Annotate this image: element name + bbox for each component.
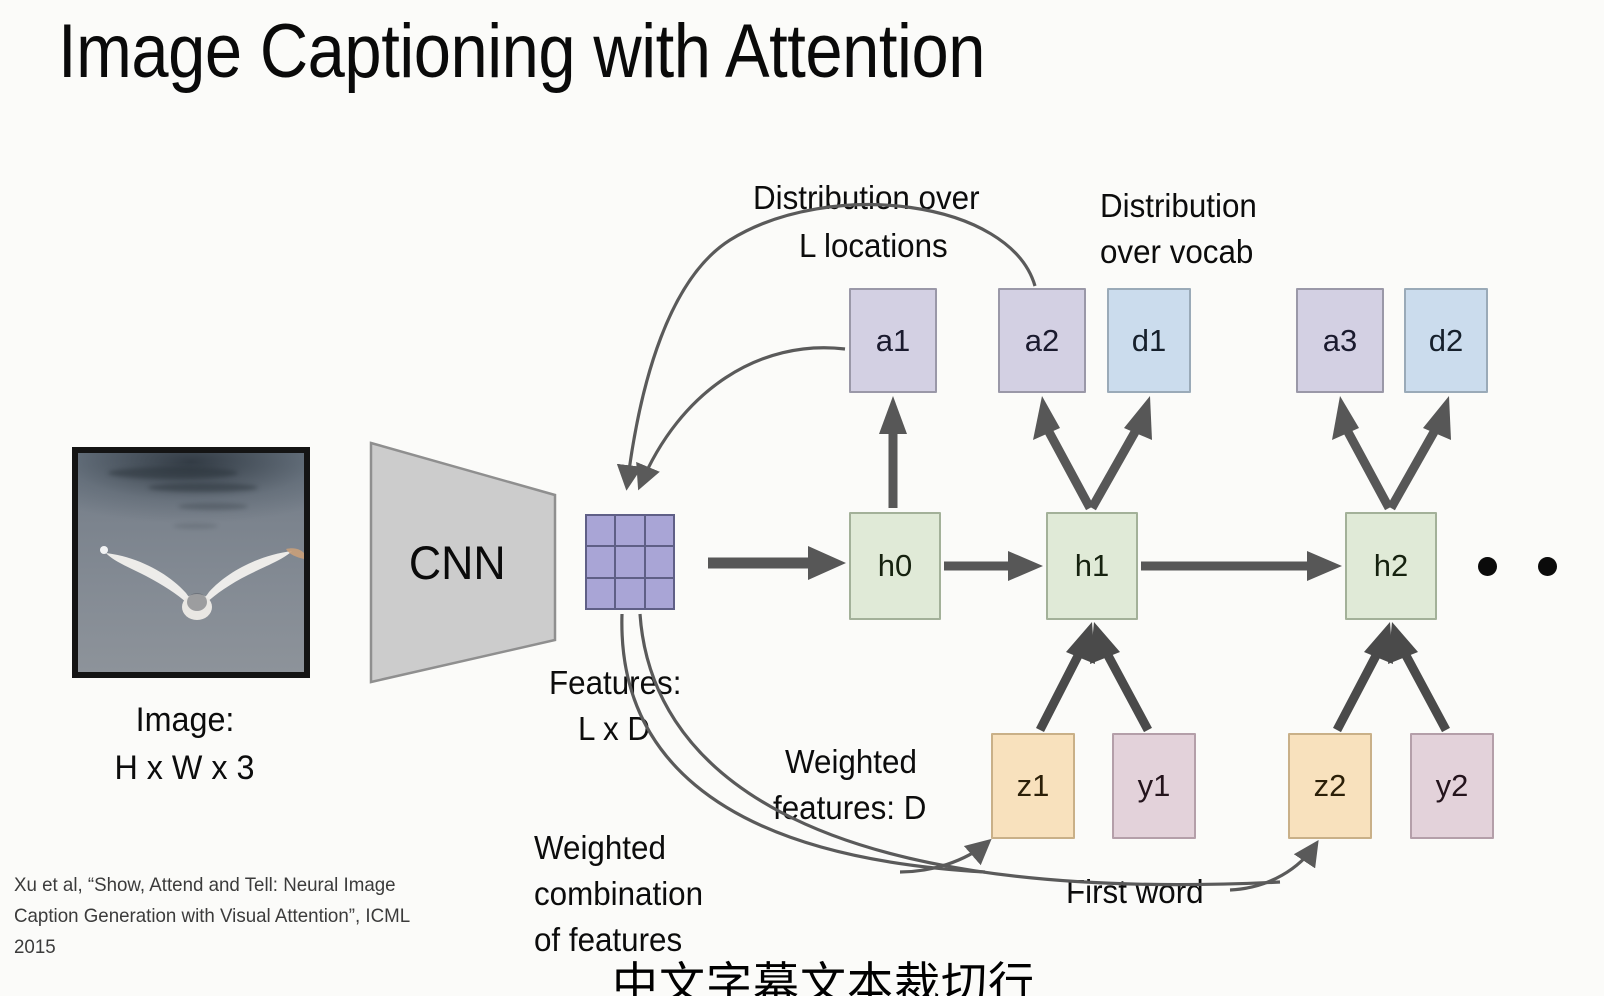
node-h1-label: h1 — [1075, 548, 1109, 584]
arrow-y1-to-h1 — [1090, 622, 1148, 730]
arrow-h0-to-a1 — [879, 396, 907, 508]
ellipsis-dot — [1478, 557, 1497, 576]
arrow-h1-to-d1 — [1092, 396, 1152, 508]
first-word-label: First word — [1066, 872, 1204, 912]
arrow-y2-to-h2 — [1388, 622, 1446, 730]
feature-grid — [585, 514, 675, 610]
node-y1-label: y1 — [1138, 768, 1171, 804]
curve-features-to-z1-head — [900, 842, 988, 872]
slide-canvas: Image Captioning with Attention Image: H… — [0, 0, 1604, 996]
feature-cell — [587, 547, 614, 576]
cnn-label: CNN — [373, 440, 554, 685]
arrow-h2-to-a3 — [1332, 396, 1389, 508]
features-label-line1: Features: — [549, 663, 681, 703]
citation-text: Xu et al, “Show, Attend and Tell: Neural… — [14, 870, 417, 963]
feature-cell — [646, 516, 673, 545]
node-y2-label: y2 — [1436, 768, 1469, 804]
features-label-line2: L x D — [578, 709, 650, 749]
weighted-features-line2: features: D — [773, 788, 926, 828]
node-d1-label: d1 — [1132, 323, 1166, 359]
node-z1[interactable]: z1 — [991, 733, 1075, 839]
arrow-h1-to-h2 — [1141, 551, 1342, 581]
arrow-h1-to-a2 — [1033, 396, 1090, 508]
node-h0-label: h0 — [878, 548, 912, 584]
weighted-features-line1: Weighted — [785, 742, 917, 782]
cnn-block: CNN — [368, 440, 558, 685]
node-d2[interactable]: d2 — [1404, 288, 1488, 393]
arrow-h2-to-d2 — [1391, 396, 1451, 508]
node-h2-label: h2 — [1374, 548, 1408, 584]
input-image-thumbnail — [72, 447, 310, 678]
image-caption-line1: Image: — [72, 700, 298, 740]
feature-cell — [587, 579, 614, 608]
node-z2[interactable]: z2 — [1288, 733, 1372, 839]
node-a2-label: a2 — [1025, 323, 1059, 359]
dist-locations-line1: Distribution over — [753, 178, 980, 218]
node-z2-label: z2 — [1314, 768, 1347, 804]
feature-cell — [616, 547, 643, 576]
node-h0[interactable]: h0 — [849, 512, 941, 620]
curve-a1-to-features — [640, 348, 845, 486]
feature-cell — [646, 547, 673, 576]
node-a1[interactable]: a1 — [849, 288, 937, 393]
arrow-features-to-h0 — [708, 546, 846, 580]
feature-cell — [616, 516, 643, 545]
weighted-combination-line2: combination — [534, 874, 703, 914]
node-y2[interactable]: y2 — [1410, 733, 1494, 839]
weighted-combination-line1: Weighted — [534, 828, 666, 868]
feature-cell — [587, 516, 614, 545]
weighted-combination-line3: of features — [534, 920, 682, 960]
curve-features-to-z2-head — [1230, 844, 1316, 890]
image-caption-line2: H x W x 3 — [60, 748, 309, 788]
feature-cell — [616, 579, 643, 608]
node-d2-label: d2 — [1429, 323, 1463, 359]
arrow-h0-to-h1 — [944, 551, 1043, 581]
dist-vocab-line2: over vocab — [1100, 232, 1253, 272]
node-d1[interactable]: d1 — [1107, 288, 1191, 393]
node-z1-label: z1 — [1017, 768, 1050, 804]
dist-vocab-line1: Distribution — [1100, 186, 1257, 226]
feature-cell — [646, 579, 673, 608]
dist-locations-line2: L locations — [799, 226, 948, 266]
arrow-z2-to-h2 — [1337, 622, 1393, 730]
arrow-z1-to-h1 — [1040, 622, 1095, 730]
page-title: Image Captioning with Attention — [58, 8, 985, 96]
node-a1-label: a1 — [876, 323, 910, 359]
ellipsis-dot — [1538, 557, 1557, 576]
node-y1[interactable]: y1 — [1112, 733, 1196, 839]
node-h2[interactable]: h2 — [1345, 512, 1437, 620]
node-a3-label: a3 — [1323, 323, 1357, 359]
node-a3[interactable]: a3 — [1296, 288, 1384, 393]
node-h1[interactable]: h1 — [1046, 512, 1138, 620]
node-a2[interactable]: a2 — [998, 288, 1086, 393]
seagull-icon — [78, 453, 304, 672]
cropped-subtitle-strip: 中文字幕文本裁切行 — [612, 958, 1312, 996]
